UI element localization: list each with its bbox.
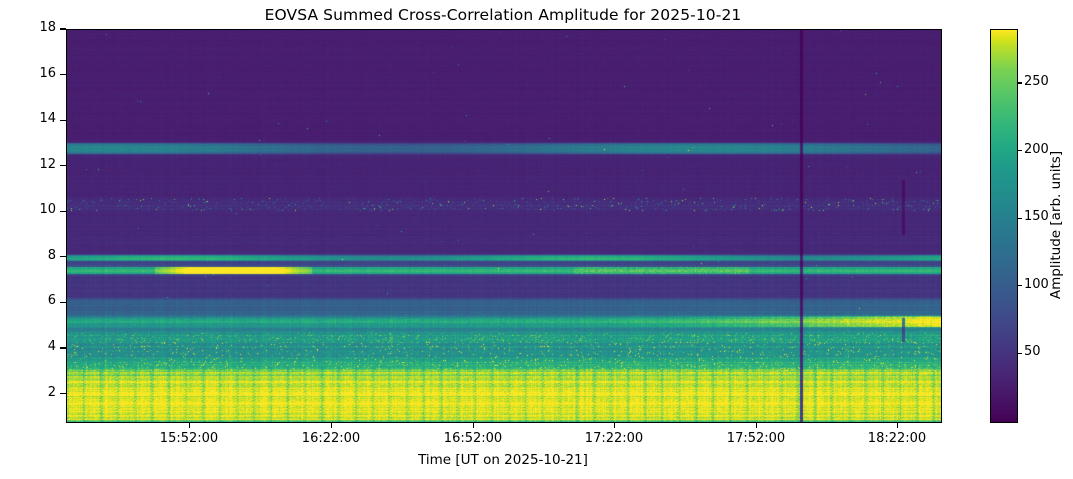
y-tick-mark — [60, 74, 66, 75]
x-tick-mark — [473, 422, 474, 428]
y-tick-label: 4 — [14, 339, 56, 354]
colorbar-tick-mark — [1017, 285, 1022, 286]
x-tick-label: 15:52:00 — [144, 431, 234, 446]
x-tick-label: 16:22:00 — [286, 431, 376, 446]
x-tick-mark — [331, 422, 332, 428]
x-tick-label: 17:52:00 — [711, 431, 801, 446]
y-tick-mark — [60, 211, 66, 212]
dynamic-spectrum-image — [67, 30, 941, 422]
y-tick-label: 18 — [14, 20, 56, 35]
y-tick-mark — [60, 302, 66, 303]
y-tick-label: 16 — [14, 66, 56, 81]
chart-title: EOVSA Summed Cross-Correlation Amplitude… — [0, 6, 1006, 24]
colorbar-tick-label: 200 — [1024, 142, 1049, 157]
y-tick-label: 8 — [14, 248, 56, 263]
x-tick-mark — [189, 422, 190, 428]
figure-canvas: EOVSA Summed Cross-Correlation Amplitude… — [0, 0, 1073, 479]
y-tick-mark — [60, 393, 66, 394]
x-tick-mark — [897, 422, 898, 428]
x-tick-label: 16:52:00 — [428, 431, 518, 446]
x-tick-label: 18:22:00 — [852, 431, 942, 446]
colorbar-tick-mark — [1017, 82, 1022, 83]
colorbar-tick-label: 100 — [1024, 277, 1049, 292]
colorbar — [990, 29, 1018, 423]
x-tick-mark — [614, 422, 615, 428]
y-tick-mark — [60, 120, 66, 121]
y-tick-mark — [60, 28, 66, 29]
colorbar-tick-label: 250 — [1024, 74, 1049, 89]
colorbar-tick-mark — [1017, 150, 1022, 151]
y-tick-label: 6 — [14, 293, 56, 308]
colorbar-tick-label: 50 — [1024, 344, 1041, 359]
y-tick-label: 12 — [14, 157, 56, 172]
y-tick-mark — [60, 256, 66, 257]
colorbar-tick-mark — [1017, 218, 1022, 219]
spectrogram-axes — [66, 29, 942, 423]
x-tick-mark — [756, 422, 757, 428]
colorbar-tick-mark — [1017, 353, 1022, 354]
y-tick-label: 2 — [14, 385, 56, 400]
colorbar-label: Amplitude [arb. units] — [1048, 151, 1064, 299]
colorbar-tick-label: 150 — [1024, 209, 1049, 224]
y-tick-mark — [60, 347, 66, 348]
y-tick-mark — [60, 165, 66, 166]
y-tick-label: 14 — [14, 111, 56, 126]
x-tick-label: 17:22:00 — [569, 431, 659, 446]
x-axis-label: Time [UT on 2025-10-21] — [66, 452, 940, 468]
y-tick-label: 10 — [14, 202, 56, 217]
